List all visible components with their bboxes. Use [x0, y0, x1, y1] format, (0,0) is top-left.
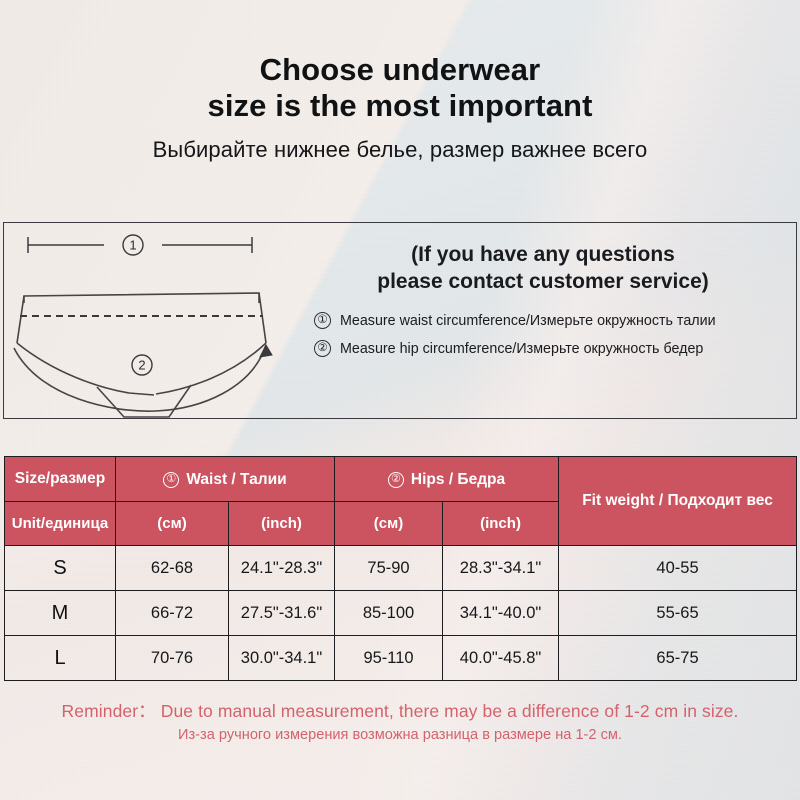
waistband-sides [17, 293, 266, 343]
circled-one-icon-header: ① [163, 472, 179, 488]
row-m-waist-cm: 66-72 [116, 591, 229, 636]
row-l-hips-inch: 40.0"-45.8" [443, 636, 559, 681]
page-title-line-1: Choose underwear [0, 52, 800, 88]
row-l-waist-cm: 70-76 [116, 636, 229, 681]
row-m-hips-cm: 85-100 [335, 591, 443, 636]
underwear-illustration: 1 2 [4, 223, 304, 418]
svg-text:2: 2 [138, 358, 145, 373]
header-hips-label: Hips / Бедра [411, 471, 505, 489]
row-size-m: M [5, 591, 116, 636]
row-l-weight-kg: 65-75 [559, 636, 797, 681]
measure-instruction-waist-text: Measure waist circumference/Измерьте окр… [340, 313, 716, 329]
header-size: Size/размер [5, 457, 116, 502]
size-chart-body: S 62-68 24.1"-28.3" 75-90 28.3"-34.1" 40… [5, 546, 797, 681]
size-guide-content: Choose underwear size is the most import… [0, 0, 800, 800]
header-hips-inch: (inch) [443, 502, 559, 546]
reminder-text-ru: Из-за ручного измерения возможна разница… [0, 725, 800, 745]
table-row: M 66-72 27.5"-31.6" 85-100 34.1"-40.0" 5… [5, 591, 797, 636]
page-subtitle-ru: Выбирайте нижнее белье, размер важнее вс… [0, 137, 800, 163]
underwear-diagram-svg: 1 2 [4, 223, 304, 418]
row-size-s: S [5, 546, 116, 591]
header-waist-label: Waist / Талии [186, 471, 286, 489]
measure-instruction-list: ① Measure waist circumference/Измерьте о… [304, 312, 796, 357]
header-waist: ① Waist / Талии [116, 457, 335, 502]
circled-one-icon: ① [314, 312, 331, 329]
page-title-line-2: size is the most important [0, 88, 800, 124]
header-unit: Unit/единица [5, 502, 116, 546]
reminder-block: Reminder： Due to manual measurement, the… [0, 700, 800, 745]
svg-text:1: 1 [129, 238, 136, 253]
customer-service-note: (If you have any questions please contac… [304, 241, 796, 295]
row-s-waist-inch: 24.1"-28.3" [229, 546, 335, 591]
waist-marker-circle-1: 1 [123, 235, 143, 255]
row-l-hips-cm: 95-110 [335, 636, 443, 681]
row-m-weight-kg: 55-65 [559, 591, 797, 636]
header-waist-cm: (cм) [116, 502, 229, 546]
header-hips: ② Hips / Бедра [335, 457, 559, 502]
reminder-text-en: Reminder： Due to manual measurement, the… [0, 700, 800, 723]
customer-service-note-line-1: (If you have any questions [304, 241, 782, 268]
row-size-l: L [5, 636, 116, 681]
diagram-instructions: (If you have any questions please contac… [304, 223, 796, 418]
circled-two-icon-header: ② [388, 472, 404, 488]
measurement-diagram-panel: 1 2 [3, 222, 797, 419]
row-s-waist-cm: 62-68 [116, 546, 229, 591]
header-hips-cm: (cм) [335, 502, 443, 546]
waistband-top [24, 293, 259, 303]
row-m-waist-inch: 27.5"-31.6" [229, 591, 335, 636]
header-row-primary: Size/размер ① Waist / Талии ② Hips / Бед… [5, 457, 797, 502]
heading-block: Choose underwear size is the most import… [0, 0, 800, 163]
header-fit-weight-label: Fit weight / Подходит вес [559, 492, 796, 510]
table-row: S 62-68 24.1"-28.3" 75-90 28.3"-34.1" 40… [5, 546, 797, 591]
customer-service-note-line-2: please contact customer service) [304, 268, 782, 295]
row-s-hips-inch: 28.3"-34.1" [443, 546, 559, 591]
circled-two-icon: ② [314, 340, 331, 357]
row-s-weight-kg: 40-55 [559, 546, 797, 591]
size-chart-header: Size/размер ① Waist / Талии ② Hips / Бед… [5, 457, 797, 546]
row-m-hips-inch: 34.1"-40.0" [443, 591, 559, 636]
measure-instruction-hips-text: Measure hip circumference/Измерьте окруж… [340, 341, 703, 357]
right-leg-curve [156, 343, 266, 394]
header-waist-inch: (inch) [229, 502, 335, 546]
table-row: L 70-76 30.0"-34.1" 95-110 40.0"-45.8" 6… [5, 636, 797, 681]
row-l-waist-inch: 30.0"-34.1" [229, 636, 335, 681]
size-chart-table: Size/размер ① Waist / Талии ② Hips / Бед… [4, 456, 797, 681]
hip-marker-circle-2: 2 [132, 355, 152, 375]
measure-instruction-waist: ① Measure waist circumference/Измерьте о… [314, 312, 796, 329]
measure-instruction-hips: ② Measure hip circumference/Измерьте окр… [314, 340, 796, 357]
waist-dimension-line [28, 237, 252, 253]
row-s-hips-cm: 75-90 [335, 546, 443, 591]
header-fit-weight: Fit weight / Подходит вес [559, 457, 797, 546]
